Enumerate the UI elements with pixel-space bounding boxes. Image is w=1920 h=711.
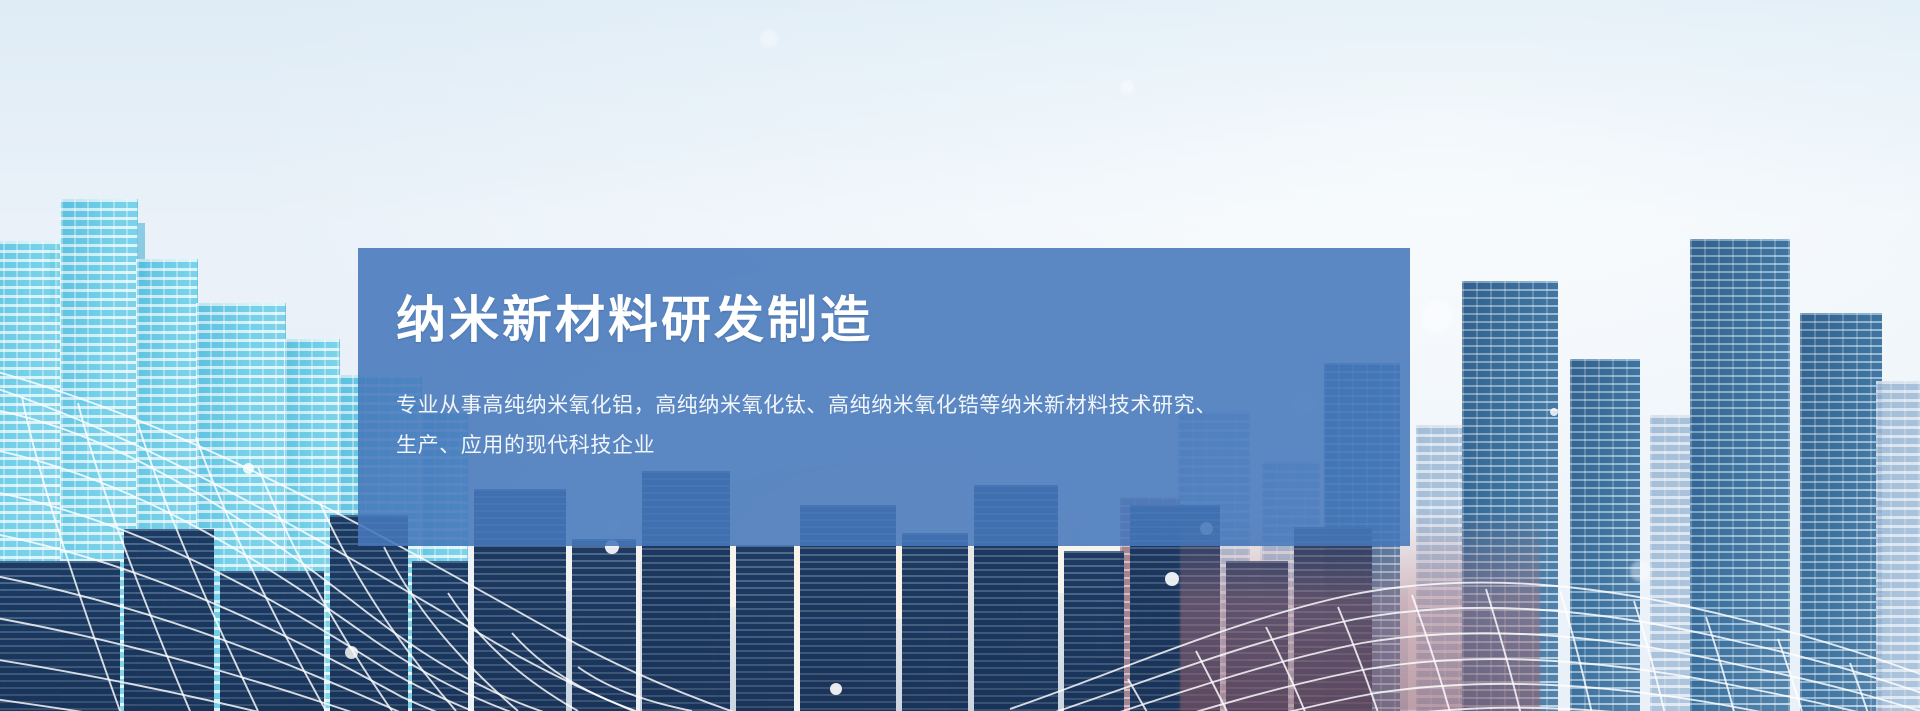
hero-description: 专业从事高纯纳米氧化铝，高纯纳米氧化钛、高纯纳米氧化锆等纳米新材料技术研究、 生… bbox=[396, 386, 1196, 466]
hero-content-inner: 纳米新材料研发制造 专业从事高纯纳米氧化铝，高纯纳米氧化钛、高纯纳米氧化锆等纳米… bbox=[358, 248, 1410, 466]
hero-content-panel: 纳米新材料研发制造 专业从事高纯纳米氧化铝，高纯纳米氧化钛、高纯纳米氧化锆等纳米… bbox=[358, 248, 1410, 546]
page-title: 纳米新材料研发制造 bbox=[396, 292, 1370, 348]
hero-description-line-2: 生产、应用的现代科技企业 bbox=[396, 426, 1196, 466]
hero-description-line-1: 专业从事高纯纳米氧化铝，高纯纳米氧化钛、高纯纳米氧化锆等纳米新材料技术研究、 bbox=[396, 386, 1196, 426]
hero-banner: 纳米新材料研发制造 专业从事高纯纳米氧化铝，高纯纳米氧化钛、高纯纳米氧化锆等纳米… bbox=[0, 0, 1920, 711]
